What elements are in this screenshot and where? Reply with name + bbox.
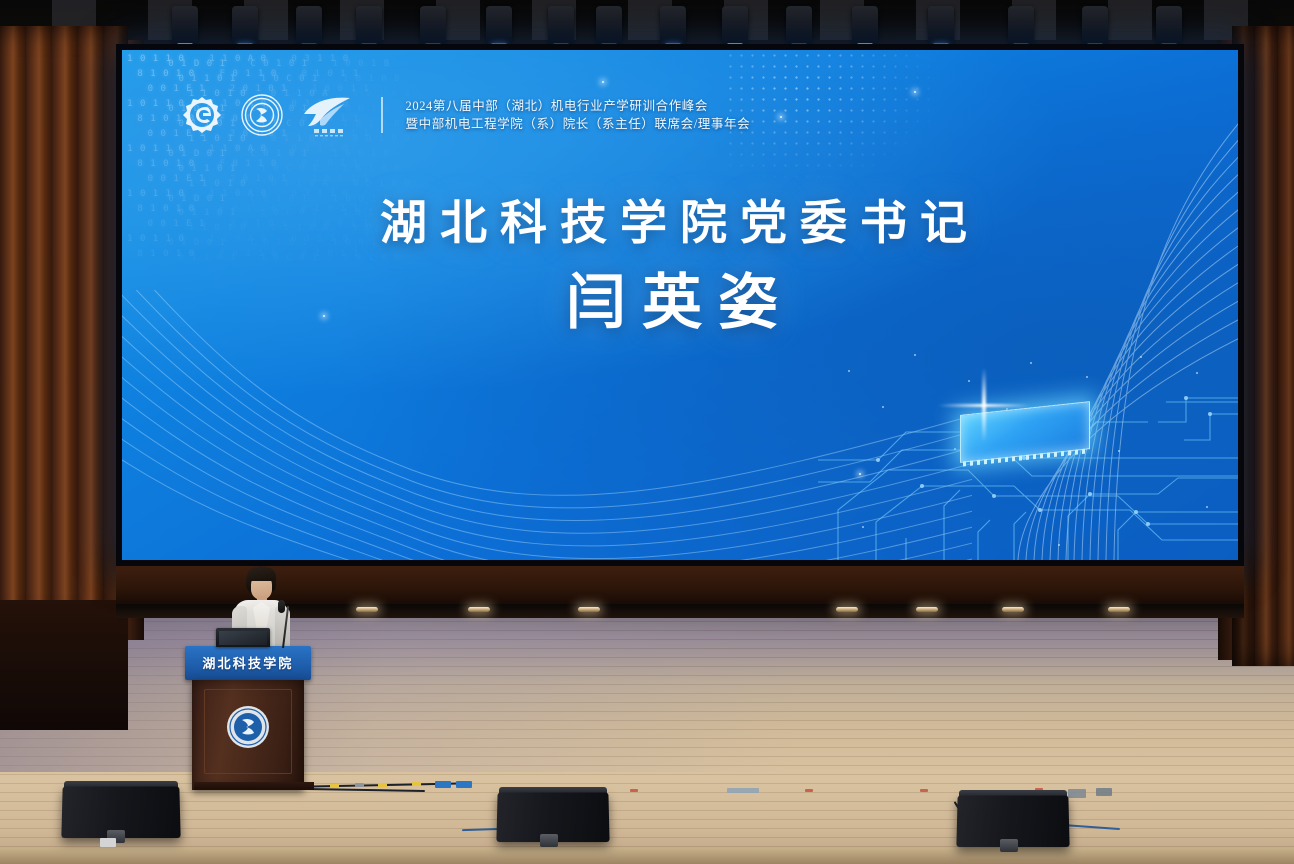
university-seal-logo	[239, 92, 285, 138]
digit-cell: 1 0 0 1 1	[312, 174, 370, 184]
stage-light	[596, 6, 622, 46]
floor-tape	[1068, 789, 1086, 798]
chip-light-flare	[938, 404, 1030, 407]
sparkle-dot	[602, 81, 604, 83]
stage-light	[420, 6, 446, 46]
stage-light	[786, 6, 812, 46]
header-divider	[381, 97, 383, 133]
floor-light	[468, 607, 490, 612]
stage-light	[1008, 6, 1034, 46]
cable-tape	[355, 783, 364, 787]
digit-cell: 1 0 1 1 0	[127, 144, 185, 154]
floor-marker	[920, 789, 928, 792]
digit-cell: 0 3 1 1 0	[291, 189, 349, 199]
digit-cell: 1 1 0 A 0	[209, 54, 267, 64]
digit-cell: 0 1 1 0 1	[178, 164, 236, 174]
cable-tape	[456, 781, 472, 788]
digit-cell: 0 0 1 E 1	[148, 174, 206, 184]
floor-light	[356, 607, 378, 612]
stage-light	[1082, 6, 1108, 46]
digit-cell: 1 0 C 0 1	[261, 74, 319, 84]
stage-monitor-left	[62, 786, 180, 838]
digit-cell: 8 1 0 1 0	[137, 159, 195, 169]
digit-cell: 1 B 1 0 0	[343, 74, 401, 84]
digit-cell: 1 0 1 1 0	[127, 99, 185, 109]
cable-tape	[378, 783, 387, 787]
stage-light	[660, 6, 686, 46]
digit-cell: 0 1 0 1 1	[302, 69, 360, 79]
digit-cell: 2 0 1 0 1	[230, 174, 288, 184]
digit-cell: C 0 1 0 1	[250, 149, 308, 159]
podium-nameplate: 湖北科技学院	[185, 646, 311, 680]
digit-cell: 1 0 0 1 B	[332, 59, 390, 69]
podium-label: 湖北科技学院	[185, 653, 311, 672]
digit-cell: 1 B 1 0 0	[343, 164, 401, 174]
stage-monitor-center	[497, 792, 609, 842]
stage-light	[928, 6, 954, 46]
podium: 湖北科技学院	[186, 646, 310, 796]
swoosh-logo	[298, 92, 358, 138]
conference-title-line1: 2024第八届中部（湖北）机电行业产学研训合作峰会	[406, 97, 751, 115]
stage-scene: 1 0 1 1 00 1 D 0 11 1 0 A 0C 0 1 0 10 3 …	[0, 0, 1294, 864]
stage-monitor-right	[957, 795, 1069, 847]
stage-light	[486, 6, 512, 46]
slide-header: 2024第八届中部（湖北）机电行业产学研训合作峰会 暨中部机电工程学院（系）院长…	[178, 92, 750, 138]
cable-tape	[100, 838, 116, 847]
speaker-name-title: 闫英姿	[122, 273, 1238, 333]
digit-cell: 0 1 0 1 1	[302, 159, 360, 169]
digit-cell: 1 0 0 1 B	[332, 149, 390, 159]
stage-light	[172, 6, 198, 46]
digit-cell: 1 0 1 1 0	[127, 54, 185, 64]
cable-tape	[412, 782, 421, 786]
digit-cell: 1 0 C 0 1	[261, 164, 319, 174]
cpu-chip-graphic	[960, 401, 1090, 463]
digit-cell: 1 1 0 1 0	[189, 179, 247, 189]
hair-fringe	[247, 567, 276, 581]
floor-light	[1108, 607, 1130, 612]
digit-cell: 0 1 D 0 1	[168, 59, 226, 69]
digit-cell: F 0 1 1 0	[220, 159, 278, 169]
digit-cell: F 0 1 1 0	[220, 69, 278, 79]
floor-tape	[727, 788, 759, 793]
stage-light	[1156, 6, 1182, 46]
floor-light	[1002, 607, 1024, 612]
stage-light	[548, 6, 574, 46]
page-title: 湖北科技学院党委书记	[122, 200, 1238, 247]
digit-cell: 1 0 1 1 0	[127, 189, 185, 199]
digit-cell: 0 3 1 1 0	[291, 144, 349, 154]
sparkle-dot	[914, 91, 916, 93]
digit-cell: 0 3 1 1 0	[291, 54, 349, 64]
floor-light	[578, 607, 600, 612]
digit-cell: 0 1 1 0 1	[178, 74, 236, 84]
monitor-connector-plate	[540, 834, 558, 847]
led-screen-frame: 1 0 1 1 00 1 D 0 11 1 0 A 0C 0 1 0 10 3 …	[116, 44, 1244, 566]
stage-light	[232, 6, 258, 46]
digit-cell: 1 1 0 A 0	[209, 189, 267, 199]
stage-curtain-left	[0, 26, 128, 626]
gear-emblem-logo	[178, 93, 226, 137]
digit-cell: C 0 1 0 1	[250, 59, 308, 69]
digit-cell: 8 1 0 1 0	[137, 69, 195, 79]
podium-base	[194, 782, 314, 790]
slide-title-block: 湖北科技学院党委书记 闫英姿	[122, 200, 1238, 333]
floor-marker	[630, 789, 638, 792]
digit-cell: 0 1 D 0 1	[168, 149, 226, 159]
floor-light	[916, 607, 938, 612]
laptop-computer	[216, 628, 270, 647]
stage-light	[296, 6, 322, 46]
digit-cell: 0 1 1 0 A	[271, 179, 329, 189]
stage-front-edge	[0, 848, 1294, 864]
floor-marker	[805, 789, 813, 792]
floor-light	[836, 607, 858, 612]
conference-title-block: 2024第八届中部（湖北）机电行业产学研训合作峰会 暨中部机电工程学院（系）院长…	[406, 97, 751, 133]
conference-title-line2: 暨中部机电工程学院（系）院长（系主任）联席会/理事年会	[406, 115, 751, 133]
sparkle-dot	[859, 473, 861, 475]
digit-cell: 1 1 0 A 0	[209, 144, 267, 154]
floor-tape	[1096, 788, 1112, 796]
stage-light	[356, 6, 382, 46]
stage-wall-lower-left	[0, 600, 128, 730]
cable-tape	[435, 781, 451, 788]
sparkle-dot	[780, 116, 782, 118]
stage-light	[852, 6, 878, 46]
monitor-connector-plate	[1000, 839, 1018, 852]
digit-cell: 0 D 1 0 0	[353, 179, 411, 189]
presentation-slide: 1 0 1 1 00 1 D 0 11 1 0 A 0C 0 1 0 10 3 …	[122, 50, 1238, 560]
university-seal-emblem	[225, 704, 271, 750]
cable-tape	[330, 784, 339, 788]
stage-light	[722, 6, 748, 46]
microphone-head	[278, 600, 285, 613]
